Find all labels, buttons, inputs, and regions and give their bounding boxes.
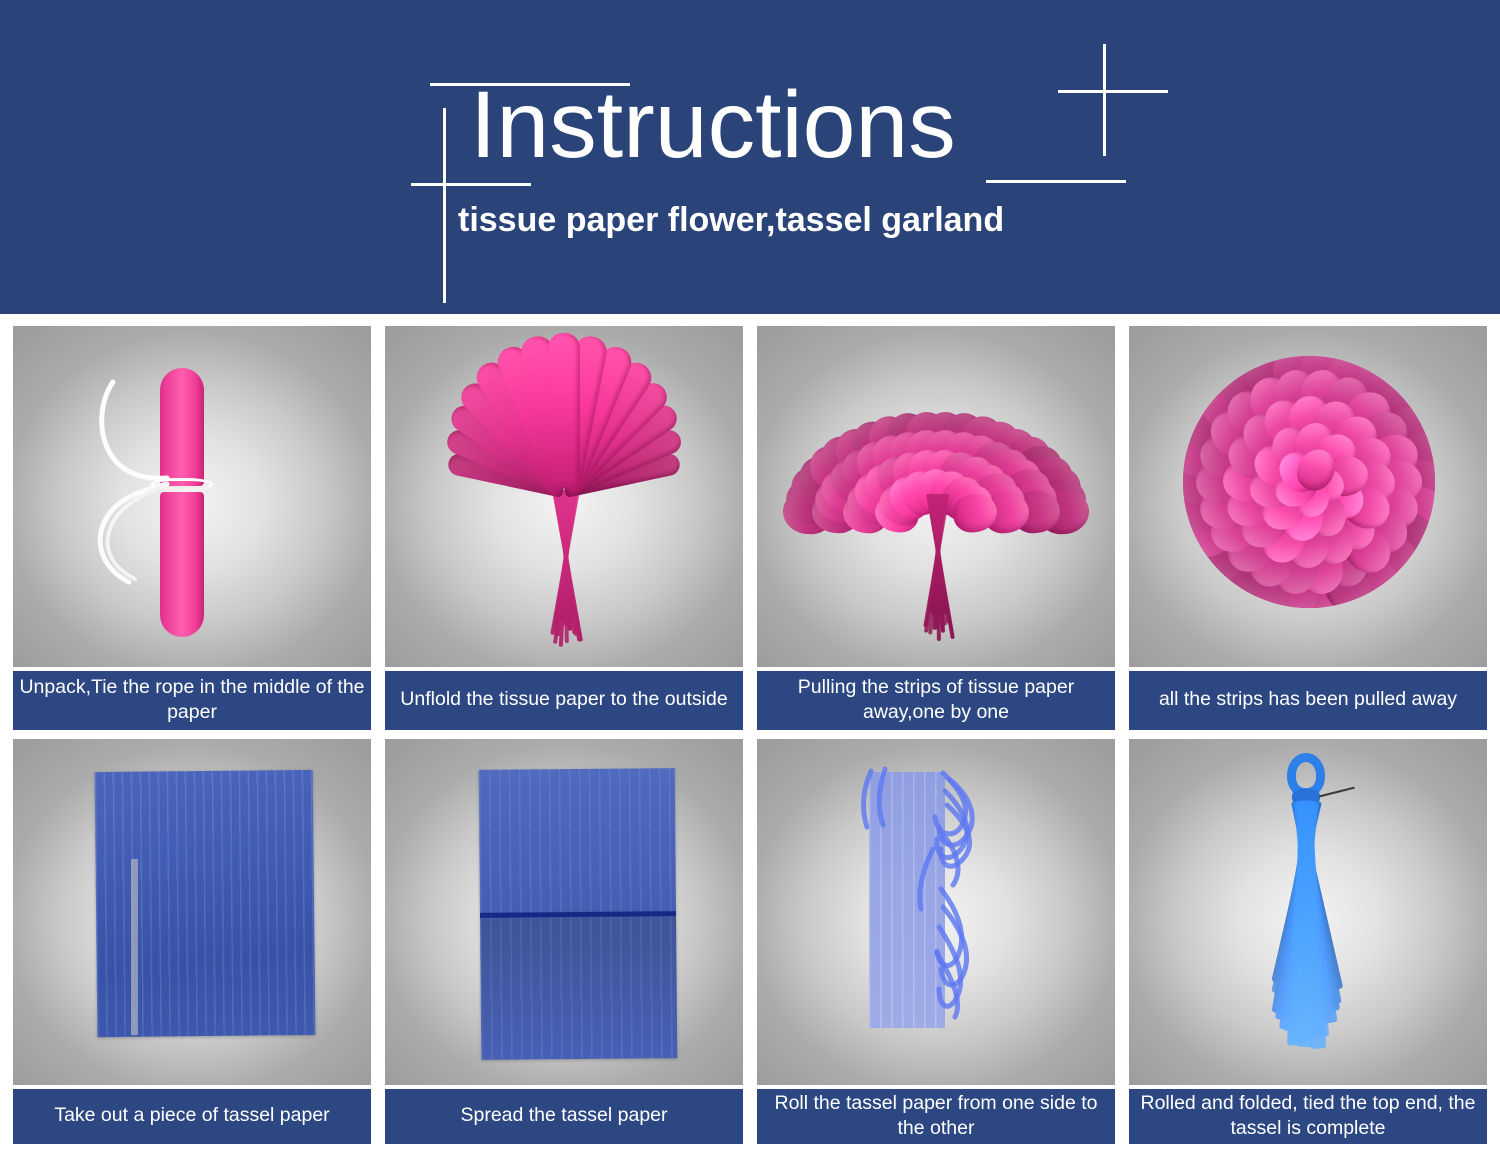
- step-card-3: Pulling the strips of tissue paper away,…: [757, 326, 1115, 730]
- step-card-5: Take out a piece of tassel paper: [13, 739, 371, 1144]
- loose-curled-strips: [757, 739, 1115, 1085]
- curled-strip: [941, 907, 967, 985]
- art-pompom-ball: [1183, 356, 1435, 608]
- step-caption-3-text: Pulling the strips of tissue paper away,…: [763, 675, 1109, 725]
- step-image-3: [757, 326, 1115, 667]
- step-image-4: [1129, 326, 1487, 667]
- step-caption-3: Pulling the strips of tissue paper away,…: [757, 671, 1115, 730]
- sheet-fringe-gap: [131, 859, 138, 1035]
- step-caption-6: Spread the tassel paper: [385, 1089, 743, 1144]
- step-caption-4: all the strips has been pulled away: [1129, 671, 1487, 730]
- step-caption-1-text: Unpack,Tie the rope in the middle of the…: [19, 675, 365, 725]
- step-image-5: [13, 739, 371, 1085]
- step-caption-2-text: Unflold the tissue paper to the outside: [391, 687, 737, 712]
- curled-strip: [879, 769, 885, 825]
- step-caption-2: Unflold the tissue paper to the outside: [385, 671, 743, 730]
- header-banner: Instructions tissue paper flower,tassel …: [0, 0, 1500, 314]
- header-rule-right-crossbar: [1058, 90, 1168, 93]
- step-card-4: all the strips has been pulled away: [1129, 326, 1487, 730]
- tassel-strip: [1298, 801, 1314, 1047]
- art-fringed-sheet: [13, 739, 371, 1085]
- step-card-2: Unflold the tissue paper to the outside: [385, 326, 743, 730]
- step-card-1: Unpack,Tie the rope in the middle of the…: [13, 326, 371, 730]
- step-image-6: [385, 739, 743, 1085]
- blue-tissue-sheet: [95, 770, 316, 1037]
- page-title: Instructions: [470, 78, 956, 173]
- step-caption-7: Roll the tassel paper from one side to t…: [757, 1089, 1115, 1144]
- step-caption-4-text: all the strips has been pulled away: [1135, 687, 1481, 712]
- header-rule-right-vertical: [1103, 44, 1106, 156]
- curled-strip: [920, 849, 933, 909]
- header-rule-left-vertical: [443, 108, 446, 303]
- fan-petal: [548, 333, 580, 487]
- step-image-1: [13, 326, 371, 667]
- step-image-8: [1129, 739, 1487, 1085]
- art-tissue-fan: [385, 326, 743, 667]
- art-finished-tassel: [1129, 739, 1487, 1085]
- curl-paths: [757, 739, 1115, 1085]
- step-caption-6-text: Spread the tassel paper: [391, 1103, 737, 1128]
- step-caption-1: Unpack,Tie the rope in the middle of the…: [13, 671, 371, 730]
- step-caption-8-text: Rolled and folded, tied the top end, the…: [1135, 1091, 1481, 1141]
- step-card-7: Roll the tassel paper from one side to t…: [757, 739, 1115, 1144]
- header-rule-right-bottom: [986, 180, 1126, 183]
- step-image-7: [757, 739, 1115, 1085]
- pompom-hanging-strips: [757, 326, 1115, 667]
- curled-strip: [864, 771, 871, 827]
- page-subtitle: tissue paper flower,tassel garland: [458, 200, 1004, 240]
- step-image-2: [385, 326, 743, 667]
- step-caption-5: Take out a piece of tassel paper: [13, 1089, 371, 1144]
- art-rolled-sheet: [757, 739, 1115, 1085]
- instruction-sheet: Instructions tissue paper flower,tassel …: [0, 0, 1500, 1151]
- art-half-pompom: [757, 326, 1115, 667]
- art-folded-strip: [13, 326, 371, 667]
- header-rule-left-crossbar: [411, 183, 531, 186]
- art-spread-sheet: [385, 739, 743, 1085]
- step-caption-8: Rolled and folded, tied the top end, the…: [1129, 1089, 1487, 1144]
- rope-knot: [151, 478, 213, 491]
- step-caption-5-text: Take out a piece of tassel paper: [19, 1103, 365, 1128]
- step-caption-7-text: Roll the tassel paper from one side to t…: [763, 1091, 1109, 1141]
- steps-grid: Unpack,Tie the rope in the middle of the…: [13, 326, 1487, 1144]
- step-card-6: Spread the tassel paper: [385, 739, 743, 1144]
- step-card-8: Rolled and folded, tied the top end, the…: [1129, 739, 1487, 1144]
